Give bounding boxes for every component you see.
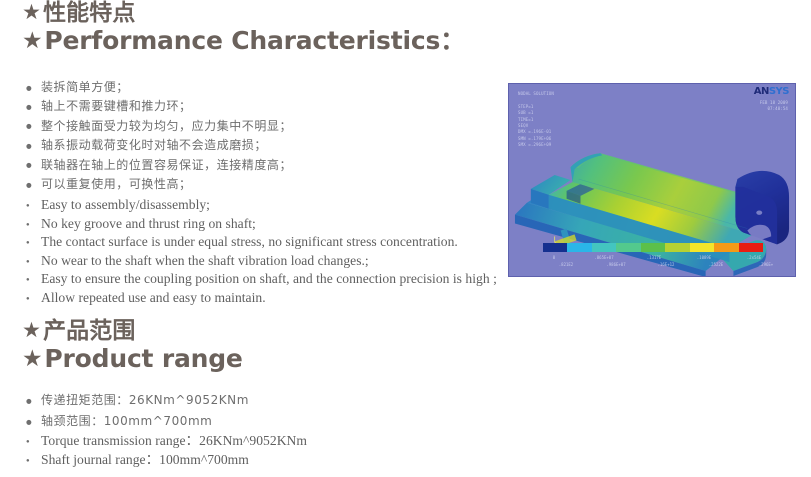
star-icon: ★ (22, 318, 41, 342)
fea-legend-labels-lower: .821E2.986E+07.16E+12.2522E.296E+ (529, 262, 791, 267)
legend-label: .1317E (629, 255, 679, 260)
legend-band-8 (739, 243, 763, 252)
list-item: 轴颈范围：100mm^700mm (26, 411, 249, 432)
ansys-logo-sys: SYS (769, 86, 789, 97)
list-item: 可以重复使用，可换性高； (26, 175, 292, 194)
list-item: Easy to assembly/disassembly; (26, 196, 497, 215)
ansys-logo: ANSYS (754, 87, 789, 97)
legend-band-3 (616, 243, 640, 252)
section-performance-characteristics: ★性能特点 ★Performance Characteristics： 装拆简单… (0, 0, 500, 55)
legend-label: .1089E (679, 255, 729, 260)
product-heading-cn: ★产品范围 (22, 318, 500, 345)
legend-band-2 (592, 243, 616, 252)
ansys-fea-figure: Z NODAL SOLUTION STEP=1 SUB =1 TIME=1 SE… (508, 83, 796, 277)
list-item: 轴系振动载荷变化时对轴不会造成磨损； (26, 136, 292, 155)
star-icon: ★ (22, 29, 42, 55)
legend-band-1 (567, 243, 591, 252)
performance-heading-cn: ★性能特点 (22, 0, 500, 27)
list-item: Torque transmission range：26KNm^9052KNm (26, 432, 307, 451)
fea-header-text: NODAL SOLUTION STEP=1 SUB =1 TIME=1 SEQV… (518, 91, 554, 149)
fea-legend-labels-upper: 0.865E+07.1317E.1089E.2x54E (529, 255, 779, 260)
product-bullet-list-cn: 传递扭矩范围：26KNm^9052KNm 轴颈范围：100mm^700mm (0, 390, 249, 432)
legend-band-6 (690, 243, 714, 252)
performance-heading-cn-text: 性能特点 (43, 0, 135, 26)
performance-bullet-list-en: Easy to assembly/disassembly; No key gro… (0, 196, 497, 308)
star-icon: ★ (22, 347, 42, 373)
legend-label: .2522E (691, 262, 741, 267)
legend-label: 0 (529, 255, 579, 260)
product-bullet-list-en: Torque transmission range：26KNm^9052KNm … (0, 432, 307, 469)
fea-color-legend (543, 243, 763, 252)
list-item: Allow repeated use and easy to maintain. (26, 289, 497, 308)
product-heading-cn-text: 产品范围 (43, 318, 135, 344)
list-item: 轴上不需要键槽和推力环； (26, 97, 292, 116)
product-heading-en-text: Product range (44, 344, 242, 373)
legend-label: .296E+ (741, 262, 791, 267)
list-item: No wear to the shaft when the shaft vibr… (26, 252, 497, 271)
section-product-range: ★产品范围 ★Product range 传递扭矩范围：26KNm^9052KN… (0, 318, 500, 373)
star-icon: ★ (22, 0, 41, 24)
fea-meta-text: FEB 18 2009 07:40:54 (760, 100, 788, 113)
legend-band-0 (543, 243, 567, 252)
poster-page: ★性能特点 ★Performance Characteristics： 装拆简单… (0, 0, 811, 477)
legend-label: .2x54E (729, 255, 779, 260)
product-heading-en: ★Product range (22, 345, 500, 373)
list-item: No key groove and thrust ring on shaft; (26, 215, 497, 234)
ansys-logo-an: AN (754, 86, 769, 97)
list-item: Easy to ensure the coupling position on … (26, 270, 497, 289)
performance-bullet-list-cn: 装拆简单方便； 轴上不需要键槽和推力环； 整个接触面受力较为均匀，应力集中不明显… (0, 78, 292, 194)
legend-band-4 (641, 243, 665, 252)
list-item: The contact surface is under equal stres… (26, 233, 497, 252)
legend-label: .821E2 (541, 262, 591, 267)
list-item: 装拆简单方便； (26, 78, 292, 97)
legend-label: .16E+12 (641, 262, 691, 267)
legend-label: .865E+07 (579, 255, 629, 260)
list-item: Shaft journal range：100mm^700mm (26, 451, 307, 470)
performance-heading-en-text: Performance Characteristics： (44, 26, 465, 55)
legend-band-5 (665, 243, 689, 252)
list-item: 传递扭矩范围：26KNm^9052KNm (26, 390, 249, 411)
list-item: 整个接触面受力较为均匀，应力集中不明显； (26, 117, 292, 136)
list-item: 联轴器在轴上的位置容易保证，连接精度高； (26, 156, 292, 175)
product-heading-group: ★产品范围 ★Product range (0, 318, 500, 373)
legend-band-7 (714, 243, 738, 252)
legend-label: .986E+07 (591, 262, 641, 267)
performance-heading-en: ★Performance Characteristics： (22, 27, 500, 55)
performance-heading-group: ★性能特点 ★Performance Characteristics： (0, 0, 500, 55)
